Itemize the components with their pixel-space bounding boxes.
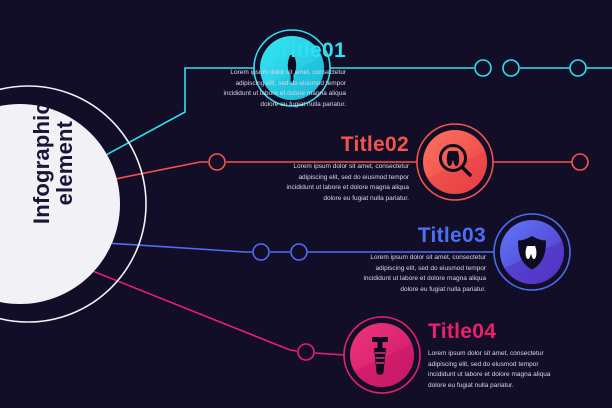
body-03: Lorem ipsum dolor sit amet, consectetur … — [362, 253, 486, 295]
title-02: Title02 — [285, 134, 409, 155]
text-block-01: Title01 Lorem ipsum dolor sit amet, cons… — [222, 40, 346, 110]
title-03: Title03 — [362, 225, 486, 246]
main-circle — [0, 86, 146, 322]
node-circle-02[interactable] — [417, 124, 493, 200]
text-block-02: Title02 Lorem ipsum dolor sit amet, cons… — [285, 134, 409, 204]
body-02: Lorem ipsum dolor sit amet, consectetur … — [285, 162, 409, 204]
node-circle-04[interactable] — [344, 317, 420, 393]
body-01: Lorem ipsum dolor sit amet, consectetur … — [222, 68, 346, 110]
node-circle-03[interactable] — [494, 214, 570, 290]
text-block-03: Title03 Lorem ipsum dolor sit amet, cons… — [362, 225, 486, 295]
title-01: Title01 — [222, 40, 346, 61]
text-block-04: Title04 Lorem ipsum dolor sit amet, cons… — [428, 321, 552, 391]
connector-line-04 — [60, 258, 344, 360]
title-04: Title04 — [428, 321, 552, 342]
body-04: Lorem ipsum dolor sit amet, consectetur … — [428, 349, 552, 391]
infographic-canvas: Infographic element Title01 Lorem ipsum … — [0, 0, 612, 408]
